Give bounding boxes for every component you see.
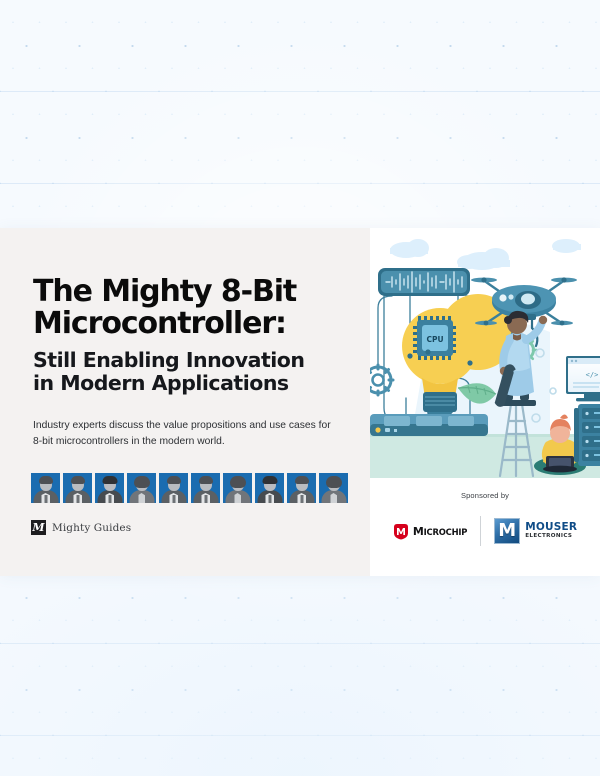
sponsor-logos: MICROCHIP M MOUSER ELECTRONICS — [380, 516, 590, 546]
title-line-1: The Mighty 8-Bit — [33, 274, 296, 309]
publisher-logo: M Mighty Guides — [31, 520, 131, 535]
mouser-tagline: ELECTRONICS — [525, 534, 577, 540]
cover-right-panel: CPU — [370, 228, 600, 576]
publisher-name: Mighty Guides — [52, 522, 131, 534]
avatar — [31, 473, 60, 503]
svg-text:</>: </> — [586, 371, 599, 379]
subtitle-line-2: in Modern Applications — [33, 371, 289, 395]
mouser-logo[interactable]: M MOUSER ELECTRONICS — [481, 518, 590, 544]
ebook-cover-card: The Mighty 8-Bit Microcontroller: Still … — [0, 228, 600, 576]
sponsor-section: Sponsored by MICROCHIP — [370, 478, 600, 576]
cpu-chip-label: CPU — [426, 335, 443, 344]
circuit-board — [370, 414, 488, 436]
avatar — [287, 473, 316, 503]
avatar — [63, 473, 92, 503]
cpu-chip-icon: CPU — [413, 316, 456, 360]
avatar — [255, 473, 284, 503]
microchip-logo[interactable]: MICROCHIP — [380, 523, 480, 540]
mouser-name: MOUSER — [525, 522, 577, 533]
contributor-avatar-row — [31, 473, 348, 503]
page-background: The Mighty 8-Bit Microcontroller: Still … — [0, 0, 600, 776]
mouser-wordmark: MOUSER ELECTRONICS — [525, 522, 577, 540]
avatar — [127, 473, 156, 503]
cover-illustration: CPU — [370, 228, 600, 478]
mouser-mark-icon: M — [494, 518, 520, 544]
avatar — [191, 473, 220, 503]
mighty-guides-mark-icon: M — [31, 520, 46, 535]
sponsored-by-label: Sponsored by — [461, 491, 509, 500]
avatar — [319, 473, 348, 503]
title-line-2: Microcontroller: — [33, 306, 286, 341]
page-title: The Mighty 8-Bit Microcontroller: — [33, 276, 340, 340]
page-subtitle: Still Enabling Innovation in Modern Appl… — [33, 349, 340, 397]
avatar — [159, 473, 188, 503]
waveform-panel — [378, 268, 470, 296]
cover-left-panel: The Mighty 8-Bit Microcontroller: Still … — [0, 228, 370, 576]
avatar — [223, 473, 252, 503]
microchip-wordmark: MICROCHIP — [413, 526, 467, 537]
microchip-mark-icon — [393, 523, 409, 540]
subtitle-line-1: Still Enabling Innovation — [33, 348, 304, 372]
avatar — [95, 473, 124, 503]
server-rack-icon — [574, 404, 600, 466]
cover-deck-text: Industry experts discuss the value propo… — [33, 418, 339, 450]
